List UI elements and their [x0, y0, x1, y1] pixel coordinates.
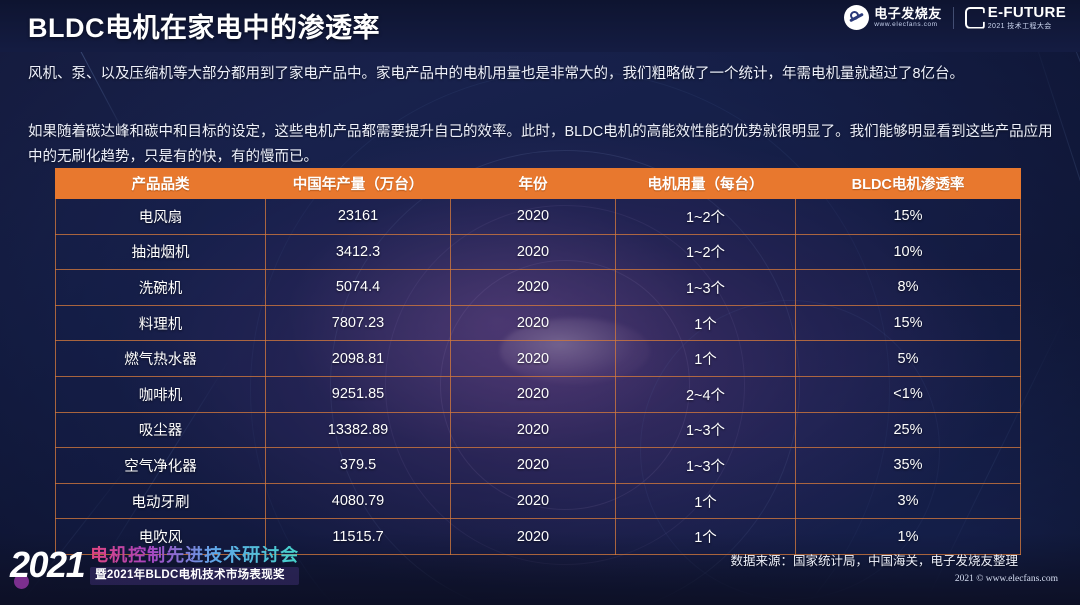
table-cell: 电动牙刷 — [56, 483, 266, 519]
table-row: 空气净化器379.520201~3个35% — [56, 448, 1021, 484]
table-cell: 1~3个 — [616, 412, 796, 448]
event-logo: 2021 电机控制先进技术研讨会 暨2021年BLDC电机技术市场表现奖 — [10, 546, 299, 585]
efuture-logo: E-FUTURE 2021 技术工程大会 — [965, 5, 1066, 30]
column-header: 电机用量（每台） — [616, 169, 796, 199]
table-cell: 379.5 — [266, 448, 451, 484]
table-cell: 15% — [796, 305, 1021, 341]
table-row: 吸尘器13382.8920201~3个25% — [56, 412, 1021, 448]
table-cell: 7807.23 — [266, 305, 451, 341]
elecfans-mark-icon — [844, 5, 869, 30]
table-cell: 料理机 — [56, 305, 266, 341]
table-cell: 2020 — [451, 448, 616, 484]
table-cell: 3% — [796, 483, 1021, 519]
table-cell: 1~3个 — [616, 270, 796, 306]
table-cell: 1个 — [616, 305, 796, 341]
table-cell: 3412.3 — [266, 234, 451, 270]
table-row: 料理机7807.2320201个15% — [56, 305, 1021, 341]
table-cell: 电风扇 — [56, 199, 266, 235]
table-cell: 空气净化器 — [56, 448, 266, 484]
table-cell: 2020 — [451, 270, 616, 306]
column-header: 年份 — [451, 169, 616, 199]
column-header: 中国年产量（万台） — [266, 169, 451, 199]
table-cell: 35% — [796, 448, 1021, 484]
table-cell: 2020 — [451, 199, 616, 235]
table-row: 抽油烟机3412.320201~2个10% — [56, 234, 1021, 270]
table-cell: 抽油烟机 — [56, 234, 266, 270]
table-row: 电动牙刷4080.7920201个3% — [56, 483, 1021, 519]
copyright-note: 2021 © www.elecfans.com — [955, 574, 1058, 584]
table-cell: 洗碗机 — [56, 270, 266, 306]
table-cell: 8% — [796, 270, 1021, 306]
efuture-mark-icon — [965, 7, 985, 29]
page-title: BLDC电机在家电中的渗透率 — [28, 6, 380, 45]
penetration-rate-table: 产品品类 中国年产量（万台） 年份 电机用量（每台） BLDC电机渗透率 电风扇… — [55, 168, 1021, 555]
table-cell: 5% — [796, 341, 1021, 377]
table-cell: 2020 — [451, 305, 616, 341]
table-cell: 咖啡机 — [56, 376, 266, 412]
table-cell: 9251.85 — [266, 376, 451, 412]
elecfans-logo-name: 电子发烧友 — [874, 7, 942, 20]
table-cell: 2020 — [451, 412, 616, 448]
logo-divider — [953, 7, 954, 29]
efuture-logo-subtitle: 2021 技术工程大会 — [988, 23, 1066, 30]
table-cell: 2020 — [451, 483, 616, 519]
table-cell: 2020 — [451, 376, 616, 412]
table-cell: 燃气热水器 — [56, 341, 266, 377]
column-header: 产品品类 — [56, 169, 266, 199]
table-cell: 25% — [796, 412, 1021, 448]
table-header-row: 产品品类 中国年产量（万台） 年份 电机用量（每台） BLDC电机渗透率 — [56, 169, 1021, 199]
table-row: 洗碗机5074.420201~3个8% — [56, 270, 1021, 306]
elecfans-logo: 电子发烧友 www.elecfans.com — [844, 5, 942, 30]
table-cell: 1个 — [616, 483, 796, 519]
column-header: BLDC电机渗透率 — [796, 169, 1021, 199]
table-cell: 15% — [796, 199, 1021, 235]
body-paragraph-2: 如果随着碳达峰和碳中和目标的设定，这些电机产品都需要提升自己的效率。此时，BLD… — [28, 120, 1054, 170]
event-logo-subtitle: 暨2021年BLDC电机技术市场表现奖 — [90, 567, 299, 585]
table-body: 电风扇2316120201~2个15%抽油烟机3412.320201~2个10%… — [56, 199, 1021, 555]
table-cell: 5074.4 — [266, 270, 451, 306]
table-cell: 1~2个 — [616, 234, 796, 270]
table-cell: 1~2个 — [616, 199, 796, 235]
table-cell: 10% — [796, 234, 1021, 270]
event-logo-title: 电机控制先进技术研讨会 — [90, 546, 299, 564]
table-cell: 吸尘器 — [56, 412, 266, 448]
table-cell: 2020 — [451, 234, 616, 270]
event-logo-year: 2021 — [10, 547, 84, 583]
table-cell: 13382.89 — [266, 412, 451, 448]
data-source-note: 数据来源：国家统计局，中国海关，电子发烧友整理 — [730, 550, 1018, 569]
table-row: 电风扇2316120201~2个15% — [56, 199, 1021, 235]
table-row: 咖啡机9251.8520202~4个<1% — [56, 376, 1021, 412]
table-cell: 23161 — [266, 199, 451, 235]
table-cell: 1~3个 — [616, 448, 796, 484]
table-row: 燃气热水器2098.8120201个5% — [56, 341, 1021, 377]
body-paragraph-1: 风机、泵、以及压缩机等大部分都用到了家电产品中。家电产品中的电机用量也是非常大的… — [28, 62, 1054, 87]
table-cell: 2098.81 — [266, 341, 451, 377]
table-cell: 2020 — [451, 519, 616, 555]
table-cell: 2020 — [451, 341, 616, 377]
logo-bar: 电子发烧友 www.elecfans.com E-FUTURE 2021 技术工… — [844, 5, 1066, 30]
table-cell: 1个 — [616, 341, 796, 377]
efuture-logo-name: E-FUTURE — [988, 5, 1066, 20]
elecfans-logo-url: www.elecfans.com — [874, 22, 942, 29]
table-cell: 4080.79 — [266, 483, 451, 519]
table-cell: <1% — [796, 376, 1021, 412]
table-cell: 2~4个 — [616, 376, 796, 412]
